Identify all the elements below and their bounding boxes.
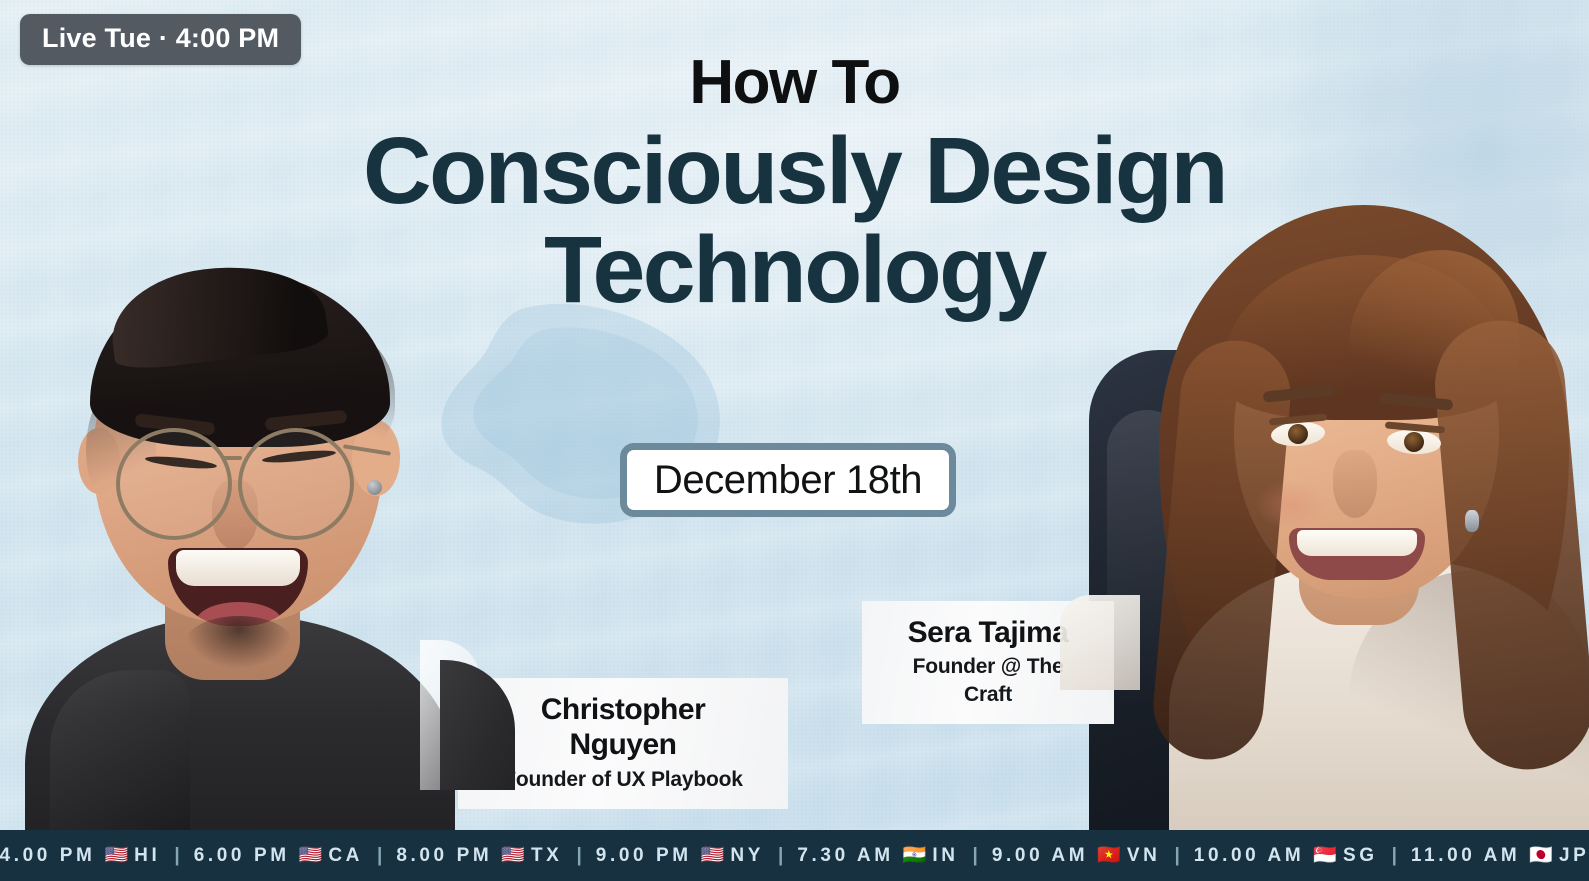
timezone-code: HI [134, 845, 160, 867]
earring-detail [1465, 510, 1479, 532]
eyeglasses-left-lens [116, 428, 232, 540]
timezone-item-vn: 9.00 AM🇻🇳VN [992, 845, 1161, 867]
earring-detail [367, 480, 382, 495]
webinar-promo-poster: Live Tue · 4:00 PM How To Consciously De… [0, 0, 1589, 881]
timezone-separator: | [1174, 845, 1179, 867]
flag-icon-ca: 🇺🇸 [299, 846, 323, 865]
event-date-badge: December 18th [620, 443, 956, 517]
timezone-separator: | [778, 845, 783, 867]
timezone-code: NY [730, 845, 764, 867]
timezone-separator: | [576, 845, 581, 867]
timezone-time: 4.00 PM [0, 845, 96, 867]
speaker-photo-sera [1049, 150, 1589, 830]
speaker-role: Founder @ The Craft [888, 653, 1088, 708]
timezone-code: JP [1559, 845, 1589, 867]
timezone-separator: | [973, 845, 978, 867]
timezone-item-hi: 4.00 PM🇺🇸HI [0, 845, 160, 867]
flag-icon-in: 🇮🇳 [903, 846, 927, 865]
timezone-list: 4.00 PM🇺🇸HI|6.00 PM🇺🇸CA|8.00 PM🇺🇸TX|9.00… [0, 845, 1589, 867]
timezone-code: IN [932, 845, 958, 867]
timezone-item-tx: 8.00 PM🇺🇸TX [396, 845, 562, 867]
timezone-separator: | [174, 845, 179, 867]
flag-icon-sg: 🇸🇬 [1313, 846, 1337, 865]
speaker-name: Sera Tajima [888, 615, 1088, 650]
timezone-time: 9.00 AM [992, 845, 1088, 867]
timezone-time: 7.30 AM [797, 845, 893, 867]
timezone-time: 10.00 AM [1194, 845, 1304, 867]
flag-icon-ny: 🇺🇸 [701, 846, 725, 865]
timezone-item-ny: 9.00 PM🇺🇸NY [596, 845, 764, 867]
timezone-code: CA [328, 845, 363, 867]
timezone-separator: | [377, 845, 382, 867]
speaker-role: Founder of UX Playbook [484, 766, 762, 793]
timezone-item-ca: 6.00 PM🇺🇸CA [194, 845, 363, 867]
eyeglasses-right-lens [238, 428, 354, 540]
speaker-name: Christopher Nguyen [484, 692, 762, 763]
live-schedule-badge: Live Tue · 4:00 PM [20, 14, 301, 65]
timezone-time: 8.00 PM [396, 845, 492, 867]
flag-icon-tx: 🇺🇸 [501, 846, 525, 865]
timezone-code: TX [531, 845, 562, 867]
timezone-time: 6.00 PM [194, 845, 290, 867]
timezone-time: 9.00 PM [596, 845, 692, 867]
flag-icon-hi: 🇺🇸 [105, 846, 129, 865]
timezone-code: VN [1127, 845, 1161, 867]
timezone-item-jp: 11.00 AM🇯🇵JP [1411, 845, 1589, 867]
timezone-bar: 4.00 PM🇺🇸HI|6.00 PM🇺🇸CA|8.00 PM🇺🇸TX|9.00… [0, 830, 1589, 881]
timezone-code: SG [1343, 845, 1378, 867]
flag-icon-vn: 🇻🇳 [1097, 846, 1121, 865]
timezone-item-sg: 10.00 AM🇸🇬SG [1194, 845, 1378, 867]
timezone-item-in: 7.30 AM🇮🇳IN [797, 845, 958, 867]
timezone-separator: | [1392, 845, 1397, 867]
flag-icon-jp: 🇯🇵 [1529, 846, 1553, 865]
sleeve-occluder [1060, 595, 1140, 690]
timezone-time: 11.00 AM [1411, 845, 1520, 867]
